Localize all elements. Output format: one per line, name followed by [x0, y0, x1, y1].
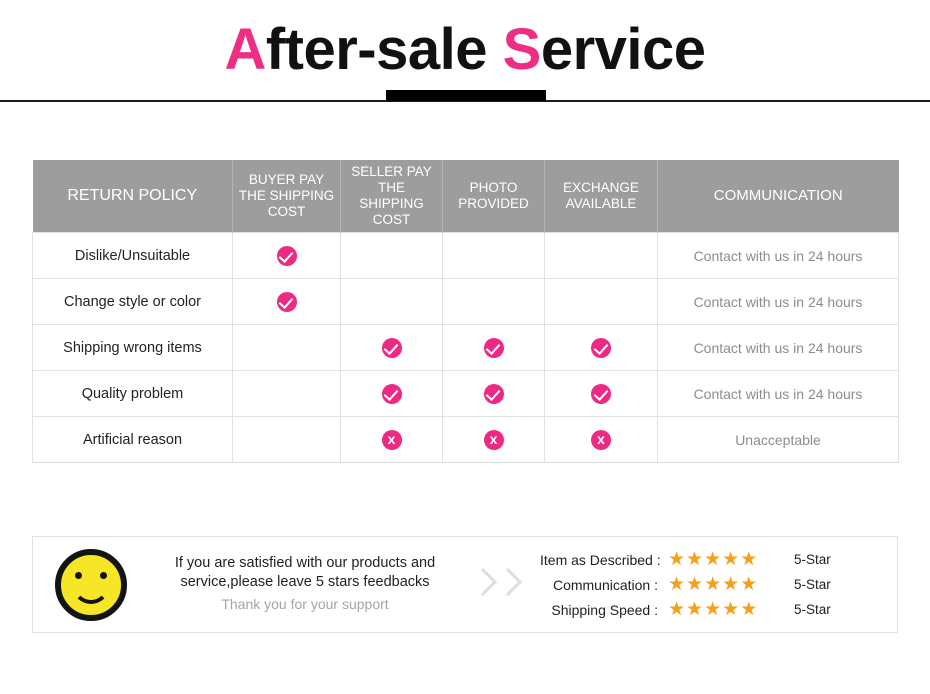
smiley-mouth	[72, 574, 110, 604]
return-policy-table: RETURN POLICY BUYER PAY THE SHIPPING COS…	[32, 160, 899, 463]
column-header-communication: COMMUNICATION	[658, 160, 899, 233]
chevron-right-icon	[496, 563, 518, 607]
star-icon: ★	[722, 600, 739, 619]
table-row: Dislike/UnsuitableContact with us in 24 …	[33, 233, 899, 279]
table-row: Quality problemContact with us in 24 hou…	[33, 371, 899, 417]
star-icon: ★	[722, 550, 739, 569]
cell-exchange-available	[545, 417, 658, 463]
rating-value: 5-Star	[794, 602, 831, 617]
star-rating-group: ★★★★★	[668, 550, 780, 569]
rating-label: Communication :	[540, 577, 658, 593]
feedback-thanks-text: Thank you for your support	[155, 592, 455, 616]
rating-value: 5-Star	[794, 552, 831, 567]
title-accent-s: S	[503, 17, 541, 82]
cell-buyer-pay	[233, 233, 341, 279]
cell-reason: Dislike/Unsuitable	[33, 233, 233, 279]
header-line-2: PROVIDED	[458, 196, 529, 211]
table-row: Change style or colorContact with us in …	[33, 279, 899, 325]
header-line-1: PHOTO	[470, 180, 518, 195]
cell-communication: Contact with us in 24 hours	[658, 325, 899, 371]
rating-row: Communication :★★★★★5-Star	[540, 572, 831, 597]
cell-exchange-available	[545, 279, 658, 325]
cell-photo-provided	[443, 233, 545, 279]
seller-pay-cross-icon	[382, 430, 402, 450]
cell-communication: Contact with us in 24 hours	[658, 279, 899, 325]
buyer-pay-check-icon	[277, 292, 297, 312]
feedback-box: If you are satisfied with our products a…	[32, 536, 898, 633]
cell-exchange-available	[545, 325, 658, 371]
column-header-seller-pay: SELLER PAY THE SHIPPING COST	[341, 160, 443, 233]
star-icon: ★	[722, 575, 739, 594]
rating-row: Shipping Speed :★★★★★5-Star	[540, 597, 831, 622]
feedback-message-line-2: service,please leave 5 stars feedbacks	[155, 573, 455, 592]
cell-communication: Contact with us in 24 hours	[658, 371, 899, 417]
cell-buyer-pay	[233, 279, 341, 325]
cell-photo-provided	[443, 417, 545, 463]
cell-buyer-pay	[233, 417, 341, 463]
ratings-list: Item as Described :★★★★★5-StarCommunicat…	[540, 547, 831, 622]
table-row: Shipping wrong itemsContact with us in 2…	[33, 325, 899, 371]
cell-seller-pay	[341, 233, 443, 279]
cell-exchange-available	[545, 233, 658, 279]
table-row: Artificial reasonUnacceptable	[33, 417, 899, 463]
header-line-1: EXCHANGE	[563, 180, 639, 195]
column-header-buyer-pay: BUYER PAY THE SHIPPING COST	[233, 160, 341, 233]
star-icon: ★	[668, 600, 685, 619]
page-title: After-sale Service	[224, 16, 705, 84]
column-header-return-policy: RETURN POLICY	[33, 160, 233, 233]
chevron-right-icon	[471, 563, 493, 607]
smiley-face-icon	[55, 549, 127, 621]
exchange-check-icon	[591, 384, 611, 404]
seller-pay-check-icon	[382, 384, 402, 404]
header-line-2: THE SHIPPING	[239, 188, 334, 203]
star-icon: ★	[704, 550, 721, 569]
header-line-3: COST	[268, 204, 306, 219]
seller-pay-check-icon	[382, 338, 402, 358]
column-header-exchange-available: EXCHANGE AVAILABLE	[545, 160, 658, 233]
rating-value: 5-Star	[794, 577, 831, 592]
rating-row: Item as Described :★★★★★5-Star	[540, 547, 831, 572]
photo-check-icon	[484, 338, 504, 358]
star-icon: ★	[686, 600, 703, 619]
header-line-2: THE SHIPPING	[359, 180, 424, 211]
buyer-pay-check-icon	[277, 246, 297, 266]
photo-cross-icon	[484, 430, 504, 450]
feedback-message: If you are satisfied with our products a…	[155, 554, 455, 616]
feedback-message-line-1: If you are satisfied with our products a…	[155, 554, 455, 573]
star-icon: ★	[740, 600, 757, 619]
cell-reason: Quality problem	[33, 371, 233, 417]
exchange-check-icon	[591, 338, 611, 358]
star-icon: ★	[686, 550, 703, 569]
cell-seller-pay	[341, 371, 443, 417]
cell-exchange-available	[545, 371, 658, 417]
cell-photo-provided	[443, 279, 545, 325]
rating-label: Shipping Speed :	[540, 602, 658, 618]
header-line-1: SELLER PAY	[351, 164, 432, 179]
table-body: Dislike/UnsuitableContact with us in 24 …	[33, 233, 899, 463]
cell-reason: Change style or color	[33, 279, 233, 325]
header-line-3: COST	[373, 212, 411, 227]
cell-seller-pay	[341, 279, 443, 325]
star-rating-group: ★★★★★	[668, 575, 780, 594]
photo-check-icon	[484, 384, 504, 404]
column-header-photo-provided: PHOTO PROVIDED	[443, 160, 545, 233]
after-sale-service-page: After-sale Service RETURN POLICY BUYER P…	[0, 0, 930, 694]
exchange-cross-icon	[591, 430, 611, 450]
title-text-2: ervice	[541, 17, 706, 82]
star-icon: ★	[740, 575, 757, 594]
star-icon: ★	[704, 600, 721, 619]
star-icon: ★	[686, 575, 703, 594]
header-line-2: AVAILABLE	[566, 196, 637, 211]
cell-buyer-pay	[233, 371, 341, 417]
title-accent-a: A	[224, 17, 265, 82]
title-divider-accent-bar	[386, 90, 546, 101]
title-text-1: fter-sale	[266, 17, 503, 82]
rating-label: Item as Described :	[540, 552, 658, 568]
star-icon: ★	[668, 575, 685, 594]
table-header-row: RETURN POLICY BUYER PAY THE SHIPPING COS…	[33, 160, 899, 233]
cell-seller-pay	[341, 325, 443, 371]
cell-communication: Contact with us in 24 hours	[658, 233, 899, 279]
cell-communication: Unacceptable	[658, 417, 899, 463]
star-icon: ★	[740, 550, 757, 569]
star-icon: ★	[704, 575, 721, 594]
header-line-1: BUYER PAY	[249, 172, 324, 187]
return-policy-table-wrap: RETURN POLICY BUYER PAY THE SHIPPING COS…	[32, 160, 898, 463]
cell-buyer-pay	[233, 325, 341, 371]
cell-reason: Shipping wrong items	[33, 325, 233, 371]
star-rating-group: ★★★★★	[668, 600, 780, 619]
page-title-wrap: After-sale Service	[0, 16, 930, 84]
chevron-right-icon-group	[471, 563, 518, 607]
cell-photo-provided	[443, 325, 545, 371]
cell-reason: Artificial reason	[33, 417, 233, 463]
star-icon: ★	[668, 550, 685, 569]
cell-photo-provided	[443, 371, 545, 417]
cell-seller-pay	[341, 417, 443, 463]
